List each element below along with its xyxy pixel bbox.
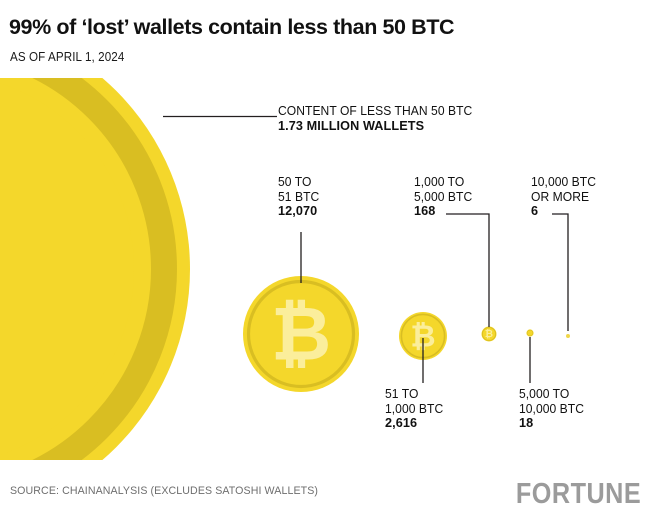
callout-value-label: 2,616 [385,416,443,431]
callout-value-label: 1.73 MILLION WALLETS [278,119,472,134]
fortune-logo: FORTUNE [516,476,641,511]
leader-line-10000-btc-or-more [552,214,568,331]
callout-50-to-51-btc: 50 TO 51 BTC 12,070 [278,175,321,219]
callout-range-line1: 51 TO [385,387,443,402]
callout-range-line1: 10,000 BTC [531,175,596,190]
callout-value-label: 6 [531,204,596,219]
callout-range-line2: 1,000 BTC [385,402,443,417]
callout-range-line2: 5,000 BTC [414,190,472,205]
callout-less-than-50-btc: CONTENT OF LESS THAN 50 BTC 1.73 MILLION… [278,104,480,133]
bitcoin-symbol-icon: ₿ [271,293,331,376]
callout-range-line2: OR MORE [531,190,596,205]
callout-range-line1: 5,000 TO [519,387,584,402]
callout-range-line2: 10,000 BTC [519,402,584,417]
micro-coin-10000-btc-or-more [566,334,570,338]
callout-range-line2: 51 BTC [278,190,319,205]
leader-line-1000-to-5000-btc [446,214,489,327]
callout-10000-btc-or-more: 10,000 BTC OR MORE 6 [531,175,599,219]
large-coin-50-to-51-btc: ₿ [243,276,359,392]
tiny-coin-5000-to-10000-btc [526,329,533,336]
callout-range-label: CONTENT OF LESS THAN 50 BTC [278,104,472,119]
callout-51-to-1000-btc: 51 TO 1,000 BTC 2,616 [385,387,446,431]
source-note: SOURCE: CHAINANALYSIS (EXCLUDES SATOSHI … [10,485,318,497]
small-coin-1000-to-5000-btc: ₿ [482,327,497,342]
callout-range-line1: 50 TO [278,175,319,190]
infographic-root: 99% of ‘lost’ wallets contain less than … [0,0,650,520]
callout-range-line1: 1,000 TO [414,175,472,190]
giant-coin-less-than-50-btc [0,17,190,520]
callout-1000-to-5000-btc: 1,000 TO 5,000 BTC 168 [414,175,475,219]
callout-value-label: 168 [414,204,472,219]
bubble-chart-stage: ₿ ₿ ₿ [0,0,650,520]
callout-value-label: 12,070 [278,204,319,219]
callout-5000-to-10000-btc: 5,000 TO 10,000 BTC 18 [519,387,587,431]
bitcoin-symbol-icon: ₿ [485,328,493,340]
callout-value-label: 18 [519,416,584,431]
